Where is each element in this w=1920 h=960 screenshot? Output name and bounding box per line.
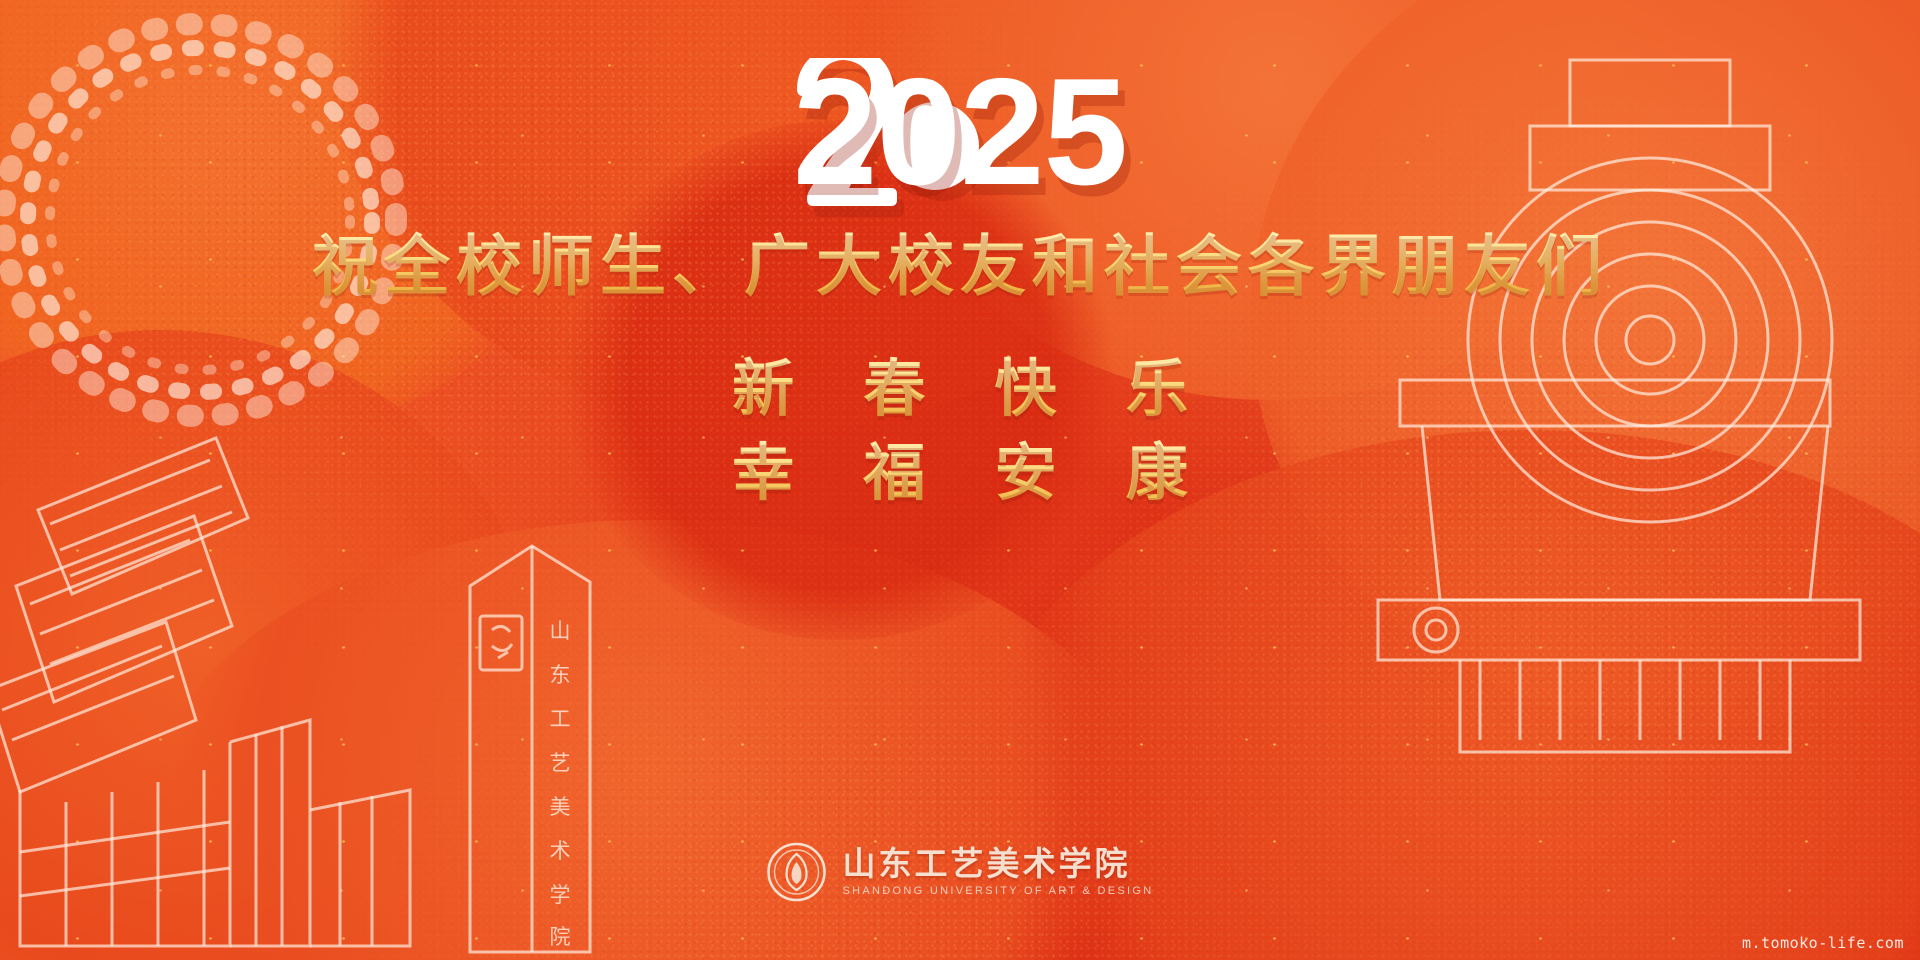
watermark-text: m.tomoko-life.com xyxy=(1742,934,1904,952)
headline-text: 祝全校师生、广大校友和社会各界朋友们 xyxy=(312,230,1608,304)
greeting-block: 新 春 快 乐 幸 福 安 康 xyxy=(706,348,1214,517)
university-seal-icon xyxy=(767,842,827,902)
year-display: 2025 2025 xyxy=(793,58,1127,208)
greeting-line-1: 新 春 快 乐 xyxy=(706,348,1214,432)
year-text: 2025 xyxy=(793,56,1127,208)
greeting-line-2: 幸 福 安 康 xyxy=(706,432,1214,516)
new-year-greeting-poster: 山 东 工 艺 美 术 学 院 xyxy=(0,0,1920,960)
brand-name-cn: 山东工艺美术学院 xyxy=(843,847,1154,882)
brand-name-en: SHANDONG UNIVERSITY OF ART & DESIGN xyxy=(843,885,1154,897)
brand-lockup: 山东工艺美术学院 SHANDONG UNIVERSITY OF ART & DE… xyxy=(767,842,1154,902)
